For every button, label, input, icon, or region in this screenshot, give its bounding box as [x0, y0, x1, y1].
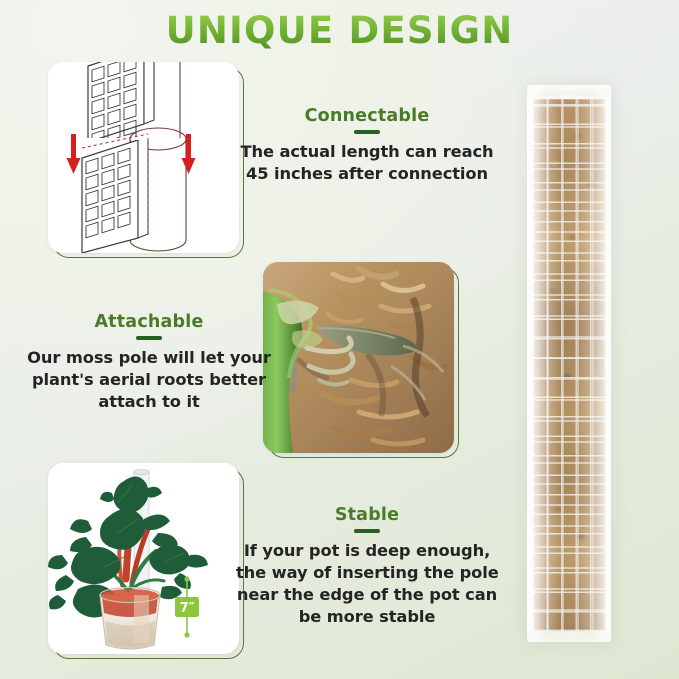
arrow-down-left-icon: [67, 134, 81, 174]
potted-plant-diagram-icon: 7″: [48, 463, 239, 654]
illustration-panel-connectable: [48, 62, 244, 258]
panel-inner: [48, 62, 239, 253]
body-line: plant's aerial roots better: [18, 369, 280, 391]
body-line: If your pot is deep enough,: [236, 540, 498, 562]
body-line: near the edge of the pot can: [236, 584, 498, 606]
illustration-panel-stable: 7″: [48, 463, 244, 659]
panel-inner: [263, 262, 454, 453]
depth-badge-label: 7″: [180, 601, 195, 616]
page-title: UNIQUE DESIGN: [0, 9, 679, 52]
body-line: attach to it: [18, 391, 280, 413]
body-line: the way of inserting the pole: [236, 562, 498, 584]
body-line: be more stable: [236, 606, 498, 628]
feature-body-stable: If your pot is deep enough, the way of i…: [236, 540, 498, 628]
panel-inner: 7″: [48, 463, 239, 654]
feature-heading-stable: Stable: [236, 505, 498, 525]
heading-rule: [354, 130, 380, 134]
connectable-diagram-icon: [48, 62, 239, 253]
illustration-panel-attachable: [263, 262, 459, 458]
heading-rule: [136, 336, 162, 340]
feature-text-connectable: Connectable The actual length can reach …: [236, 106, 498, 185]
infographic-page: UNIQUE DESIGN: [0, 0, 679, 679]
moss-pole-product-photo: [527, 85, 611, 642]
pole-gloss-highlight: [527, 85, 611, 642]
feature-text-stable: Stable If your pot is deep enough, the w…: [236, 505, 498, 628]
body-line: Our moss pole will let your: [18, 347, 280, 369]
feature-heading-attachable: Attachable: [18, 312, 280, 332]
body-line: 45 inches after connection: [236, 163, 498, 185]
feature-body-attachable: Our moss pole will let your plant's aeri…: [18, 347, 280, 413]
feature-heading-connectable: Connectable: [236, 106, 498, 126]
feature-text-attachable: Attachable Our moss pole will let your p…: [18, 312, 280, 413]
heading-rule: [354, 529, 380, 533]
aerial-root-photo: [263, 262, 454, 453]
feature-body-connectable: The actual length can reach 45 inches af…: [236, 141, 498, 185]
body-line: The actual length can reach: [236, 141, 498, 163]
